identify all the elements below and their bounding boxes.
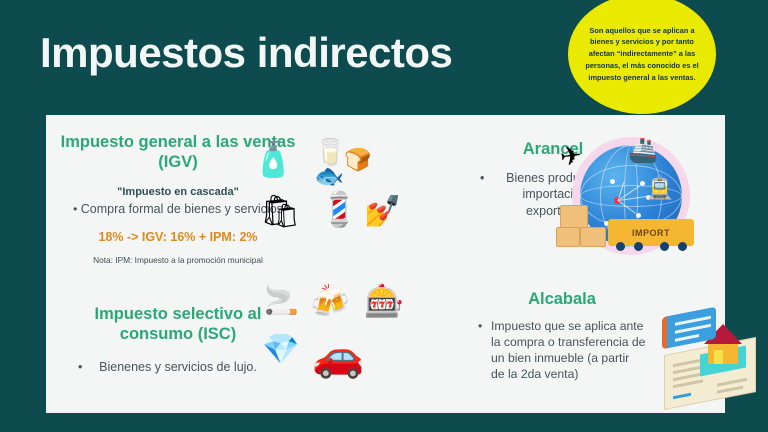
casino-slot-icon: 🎰 [364,285,404,317]
milk-jar-icon: 🥛 [314,139,346,165]
alcabala-heading: Alcabala [478,290,646,310]
train-icon: 🚊 [646,177,673,199]
cargo-box-icon [556,227,580,247]
beer-mugs-icon: 🍻 [310,285,350,317]
import-globe-illustration: ✈ 🚢 🚊 IMPORT [554,133,722,258]
cargo-box-icon [580,227,606,247]
page-title: Impuestos indirectos [40,32,452,74]
truck-label: IMPORT [632,228,670,238]
alcabala-bullet: • Impuesto que se aplica ante la compra … [478,318,646,383]
isc-bullet-text: Bienenes y servicios de lujo. [99,360,257,374]
airplane-icon: ✈ [558,142,583,171]
igv-illustration-cluster: 🧴 🥛 🍞 🐟 🛍 💈 💅 [252,137,442,257]
bullet-dot-icon: • [480,170,484,187]
food-delivery-bag-icon: 🛍 [260,195,301,227]
fish-icon: 🐟 [314,165,344,189]
jewelry-necklace-icon: 💎 [262,335,299,365]
alcabala-bullet-text: Impuesto que se aplica ante la compra o … [491,319,645,382]
flour-bag-icon: 🍞 [344,149,371,171]
cargo-box-icon [560,205,588,229]
house-door [714,350,723,364]
cargo-ship-icon: 🚢 [628,139,658,163]
bullet-dot-icon: • [73,202,77,216]
isc-illustration-cluster: 🚬 🍻 🎰 💎 🚗 [252,283,442,393]
definition-callout-text: Son aquellos que se aplican a bienes y s… [582,25,702,83]
property-deed-illustration [656,310,768,410]
barber-pole-icon: 💈 [318,193,360,227]
sports-car-icon: 🚗 [312,335,364,377]
content-card: Impuesto general a las ventas (IGV) "Imp… [46,115,725,413]
import-truck: IMPORT [608,219,694,246]
salon-manicure-icon: 💅 [364,197,401,227]
bullet-dot-icon: • [478,318,482,334]
section-alcabala: Alcabala • Impuesto que se aplica ante l… [478,290,646,383]
bullet-dot-icon: • [78,359,82,375]
cleaning-products-icon: 🧴 [252,143,294,177]
cigarettes-icon: 🚬 [264,287,299,315]
definition-callout: Son aquellos que se aplican a bienes y s… [568,0,716,114]
